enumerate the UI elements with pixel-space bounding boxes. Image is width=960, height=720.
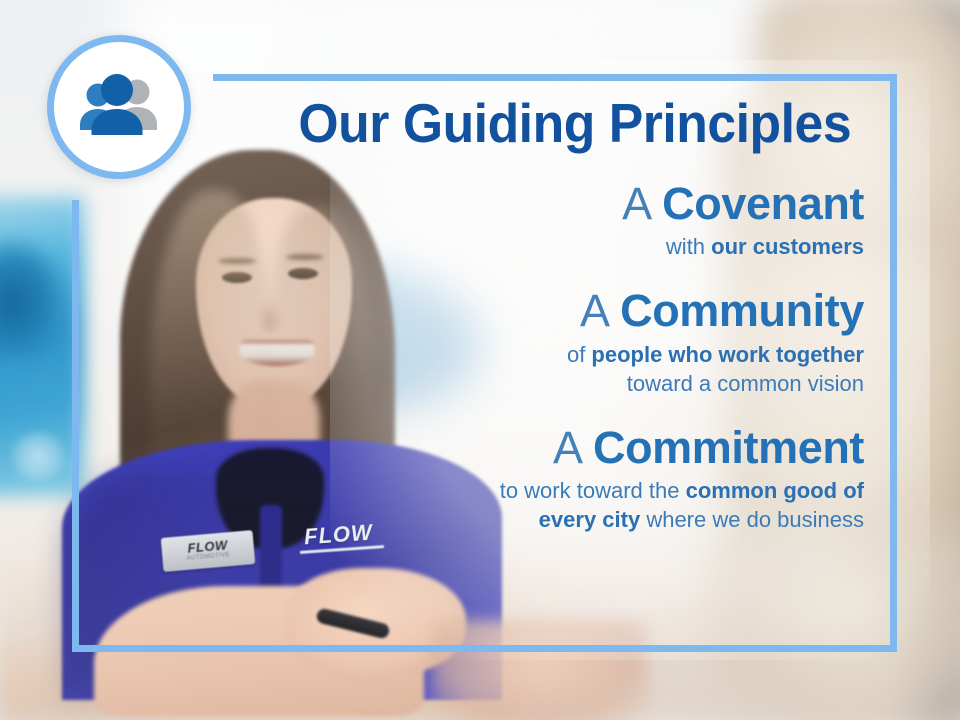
principle-covenant: A Covenant with our customers bbox=[250, 180, 864, 261]
principle-keyword: Community bbox=[620, 285, 864, 336]
principle-article: A bbox=[622, 178, 662, 229]
principle-subtext: of people who work togethertoward a comm… bbox=[250, 340, 864, 398]
principle-community: A Community of people who work togethert… bbox=[250, 287, 864, 397]
principle-title: A Commitment bbox=[250, 424, 864, 471]
principle-subtext: with our customers bbox=[250, 232, 864, 261]
customer-hands bbox=[430, 620, 650, 720]
page-title: Our Guiding Principles bbox=[54, 95, 900, 152]
principle-title: A Community bbox=[250, 287, 864, 334]
principle-title: A Covenant bbox=[250, 180, 864, 227]
principle-article: A bbox=[553, 422, 593, 473]
customer-shoulder bbox=[700, 520, 960, 720]
guiding-principles-banner: FLOW AUTOMOTIVE FLOW Ou bbox=[0, 0, 960, 720]
principle-commitment: A Commitment to work toward the common g… bbox=[250, 424, 864, 534]
principle-subtext: to work toward the common good of every … bbox=[444, 476, 864, 534]
principles-list: A Covenant with our customers A Communit… bbox=[250, 180, 890, 540]
display-screen-vehicle bbox=[0, 236, 70, 356]
display-screen-logo bbox=[6, 432, 70, 480]
principle-keyword: Covenant bbox=[662, 178, 864, 229]
principle-article: A bbox=[580, 285, 620, 336]
principle-keyword: Commitment bbox=[593, 422, 864, 473]
